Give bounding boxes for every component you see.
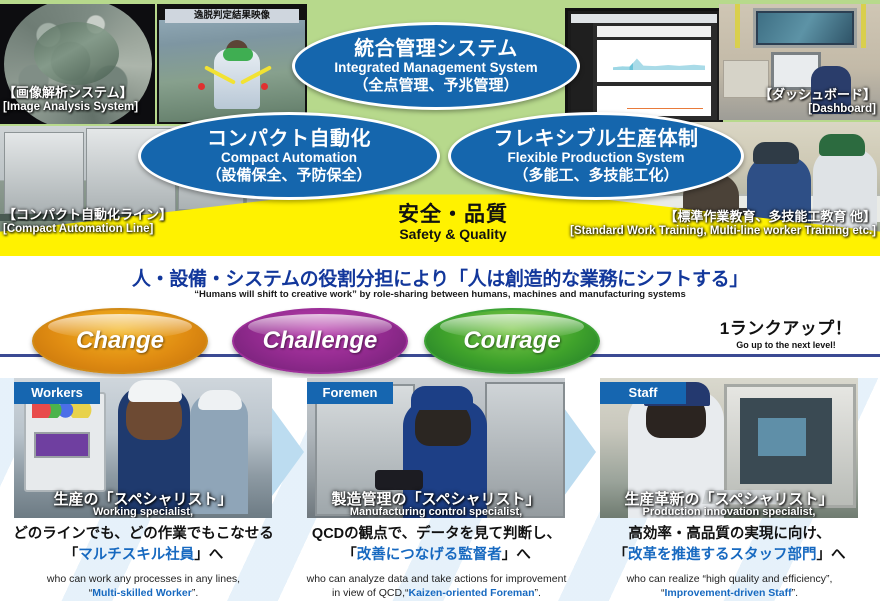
headline-ja: 人・設備・システムの役割分担により「人は創造的な業務にシフトする」	[0, 264, 880, 291]
pose-point-right	[261, 83, 268, 90]
column-foremen: 製造管理の「スペシャリスト」 Manufacturing control spe…	[293, 378, 580, 601]
body-ja-line2-pre: 「	[64, 547, 79, 563]
body-en-line1: who can realize “high quality and effici…	[627, 573, 833, 585]
overlay-title-en: Working specialist,	[14, 506, 272, 518]
body-en-line2-highlight: Multi-skilled Worker	[92, 587, 192, 599]
ellipse-flexible-production-system: フレキシブル生産体制 Flexible Production System （多…	[448, 112, 744, 200]
caption-automation-line: 【コンパクト自動化ライン】 [Compact Automation Line]	[3, 208, 172, 236]
top-panel: 逸脱判定結果映像	[0, 0, 880, 256]
bottom-section: 生産の「スペシャリスト」 Working specialist, Workers…	[0, 378, 880, 601]
caption-dashboard: 【ダッシュボード】 [Dashboard]	[759, 88, 876, 116]
body-ja-line1: どのラインでも、どの作業でもこなせる	[13, 526, 274, 542]
overlay-title-en: Production innovation specialist,	[600, 506, 858, 518]
caption-ja: 【標準作業教育、多技能工教育 他】	[570, 210, 876, 225]
photo-dashboard-screen	[565, 8, 723, 126]
pose-marker-green	[223, 48, 253, 61]
caption-ja: 【コンパクト自動化ライン】	[3, 208, 172, 223]
badge-foremen: Foremen	[307, 382, 393, 404]
body-en-line2-post: ”.	[535, 587, 541, 599]
safety-label-en: Safety & Quality	[358, 226, 548, 243]
poster-root: 逸脱判定結果映像	[0, 0, 880, 601]
ellipse-compact-automation: コンパクト自動化 Compact Automation （設備保全、予防保全）	[138, 112, 440, 200]
body-en-line2-highlight: Kaizen-oriented Foreman	[408, 587, 534, 599]
body-ja-line2-pre: 「	[614, 547, 629, 563]
body-en-line2-post: ”.	[192, 587, 198, 599]
pill-label: Courage	[463, 327, 560, 355]
browser-chrome	[571, 14, 717, 23]
rank-up-block: 1ランクアップ！ Go up to the next level!	[700, 314, 872, 350]
headline-en: “Humans will shift to creative work” by …	[0, 289, 880, 300]
ellipse-title-ja: コンパクト自動化	[207, 128, 371, 150]
machine-unit	[4, 132, 84, 214]
yellow-post	[861, 4, 866, 48]
body-ja-line2-highlight: 改善につなげる監督者	[357, 547, 502, 563]
body-en-workers: who can work any processes in any lines,…	[0, 572, 287, 600]
caption-en: [Dashboard]	[759, 103, 876, 116]
video-frame	[159, 20, 305, 122]
body-ja-line2-pre: 「	[342, 547, 357, 563]
body-ja-line2-post: 」へ	[817, 547, 846, 563]
caption-image-analysis: 【画像解析システム】 [Image Analysis System]	[3, 86, 138, 114]
column-workers: 生産の「スペシャリスト」 Working specialist, Workers…	[0, 378, 287, 601]
body-en-line2-highlight: Improvement-driven Staff	[664, 587, 791, 599]
caption-en: [Image Analysis System]	[3, 101, 138, 114]
overlay-title-en: Manufacturing control specialist,	[307, 506, 565, 518]
ellipse-title-en: Flexible Production System	[507, 150, 684, 167]
cabinet-display	[758, 418, 806, 456]
pill-label: Change	[76, 327, 164, 355]
body-ja-staff: 高効率・高品質の実現に向け、 「改革を推進するスタッフ部門」へ	[586, 524, 873, 566]
pill-courage[interactable]: Courage	[424, 308, 600, 374]
dashboard-header-row	[597, 26, 711, 37]
body-ja-line1: QCDの観点で、データを見て判断し、	[312, 526, 561, 542]
body-ja-line2-post: 」へ	[194, 547, 223, 563]
rank-up-en: Go up to the next level!	[700, 340, 872, 350]
safety-quality-label: 安全・品質 Safety & Quality	[358, 204, 548, 243]
photo-deviation-video: 逸脱判定結果映像	[157, 4, 307, 124]
body-ja-workers: どのラインでも、どの作業でもこなせる 「マルチスキル社員」へ	[0, 524, 287, 566]
body-ja-line1: 高効率・高品質の実現に向け、	[628, 526, 830, 542]
pill-challenge[interactable]: Challenge	[232, 308, 408, 374]
rank-up-ja: 1ランクアップ！	[700, 314, 872, 339]
ellipse-subtitle-ja: （設備保全、予防保全）	[206, 167, 371, 184]
ellipse-title-ja: フレキシブル生産体制	[494, 128, 699, 150]
wall-monitor	[753, 8, 857, 48]
ellipse-subtitle-ja: （多能工、多技能工化）	[513, 167, 678, 184]
caption-training: 【標準作業教育、多技能工教育 他】 [Standard Work Trainin…	[570, 210, 876, 238]
ellipse-subtitle-ja: （全点管理、予兆管理）	[353, 77, 518, 94]
body-ja-foremen: QCDの観点で、データを見て判断し、 「改善につなげる監督者」へ	[293, 524, 580, 566]
safety-label-ja: 安全・品質	[358, 204, 548, 226]
panel-screen	[34, 432, 90, 458]
badge-workers: Workers	[14, 382, 100, 404]
column-staff: 生産革新の「スペシャリスト」 Production innovation spe…	[586, 378, 873, 601]
body-en-line2-pre: in view of QCD,“	[332, 587, 408, 599]
ellipse-integrated-management-system: 統合管理システム Integrated Management System （全…	[292, 22, 580, 110]
body-ja-line2-highlight: マルチスキル社員	[78, 547, 194, 563]
caption-ja: 【ダッシュボード】	[759, 88, 876, 103]
body-en-line2-post: ”.	[792, 587, 798, 599]
body-ja-line2-highlight: 改革を推進するスタッフ部門	[628, 547, 817, 563]
pill-change[interactable]: Change	[32, 308, 208, 374]
badge-staff: Staff	[600, 382, 686, 404]
body-ja-line2-post: 」へ	[502, 547, 531, 563]
browser-window	[571, 14, 717, 120]
control-limit-lower	[627, 108, 703, 109]
body-en-line1: who can analyze data and take actions fo…	[307, 573, 567, 585]
body-en-staff: who can realize “high quality and effici…	[586, 572, 873, 600]
body-en-line1: who can work any processes in any lines,	[47, 573, 240, 585]
pill-label: Challenge	[263, 327, 378, 355]
handheld-terminal	[375, 470, 423, 490]
foreman-cap	[411, 386, 473, 410]
ellipse-title-en: Compact Automation	[221, 150, 357, 167]
dashboard-line-chart	[597, 40, 711, 82]
body-en-foremen: who can analyze data and take actions fo…	[293, 572, 580, 600]
ellipse-title-en: Integrated Management System	[334, 60, 537, 77]
panel-buttons	[32, 402, 94, 418]
ellipse-title-ja: 統合管理システム	[354, 38, 517, 60]
caption-ja: 【画像解析システム】	[3, 86, 138, 101]
yellow-post	[735, 4, 740, 48]
line-series	[613, 57, 705, 70]
pose-point-left	[198, 83, 205, 90]
caption-en: [Standard Work Training, Multi-line work…	[570, 225, 876, 238]
deviation-video-caption: 逸脱判定結果映像	[165, 9, 299, 23]
caption-en: [Compact Automation Line]	[3, 223, 172, 236]
